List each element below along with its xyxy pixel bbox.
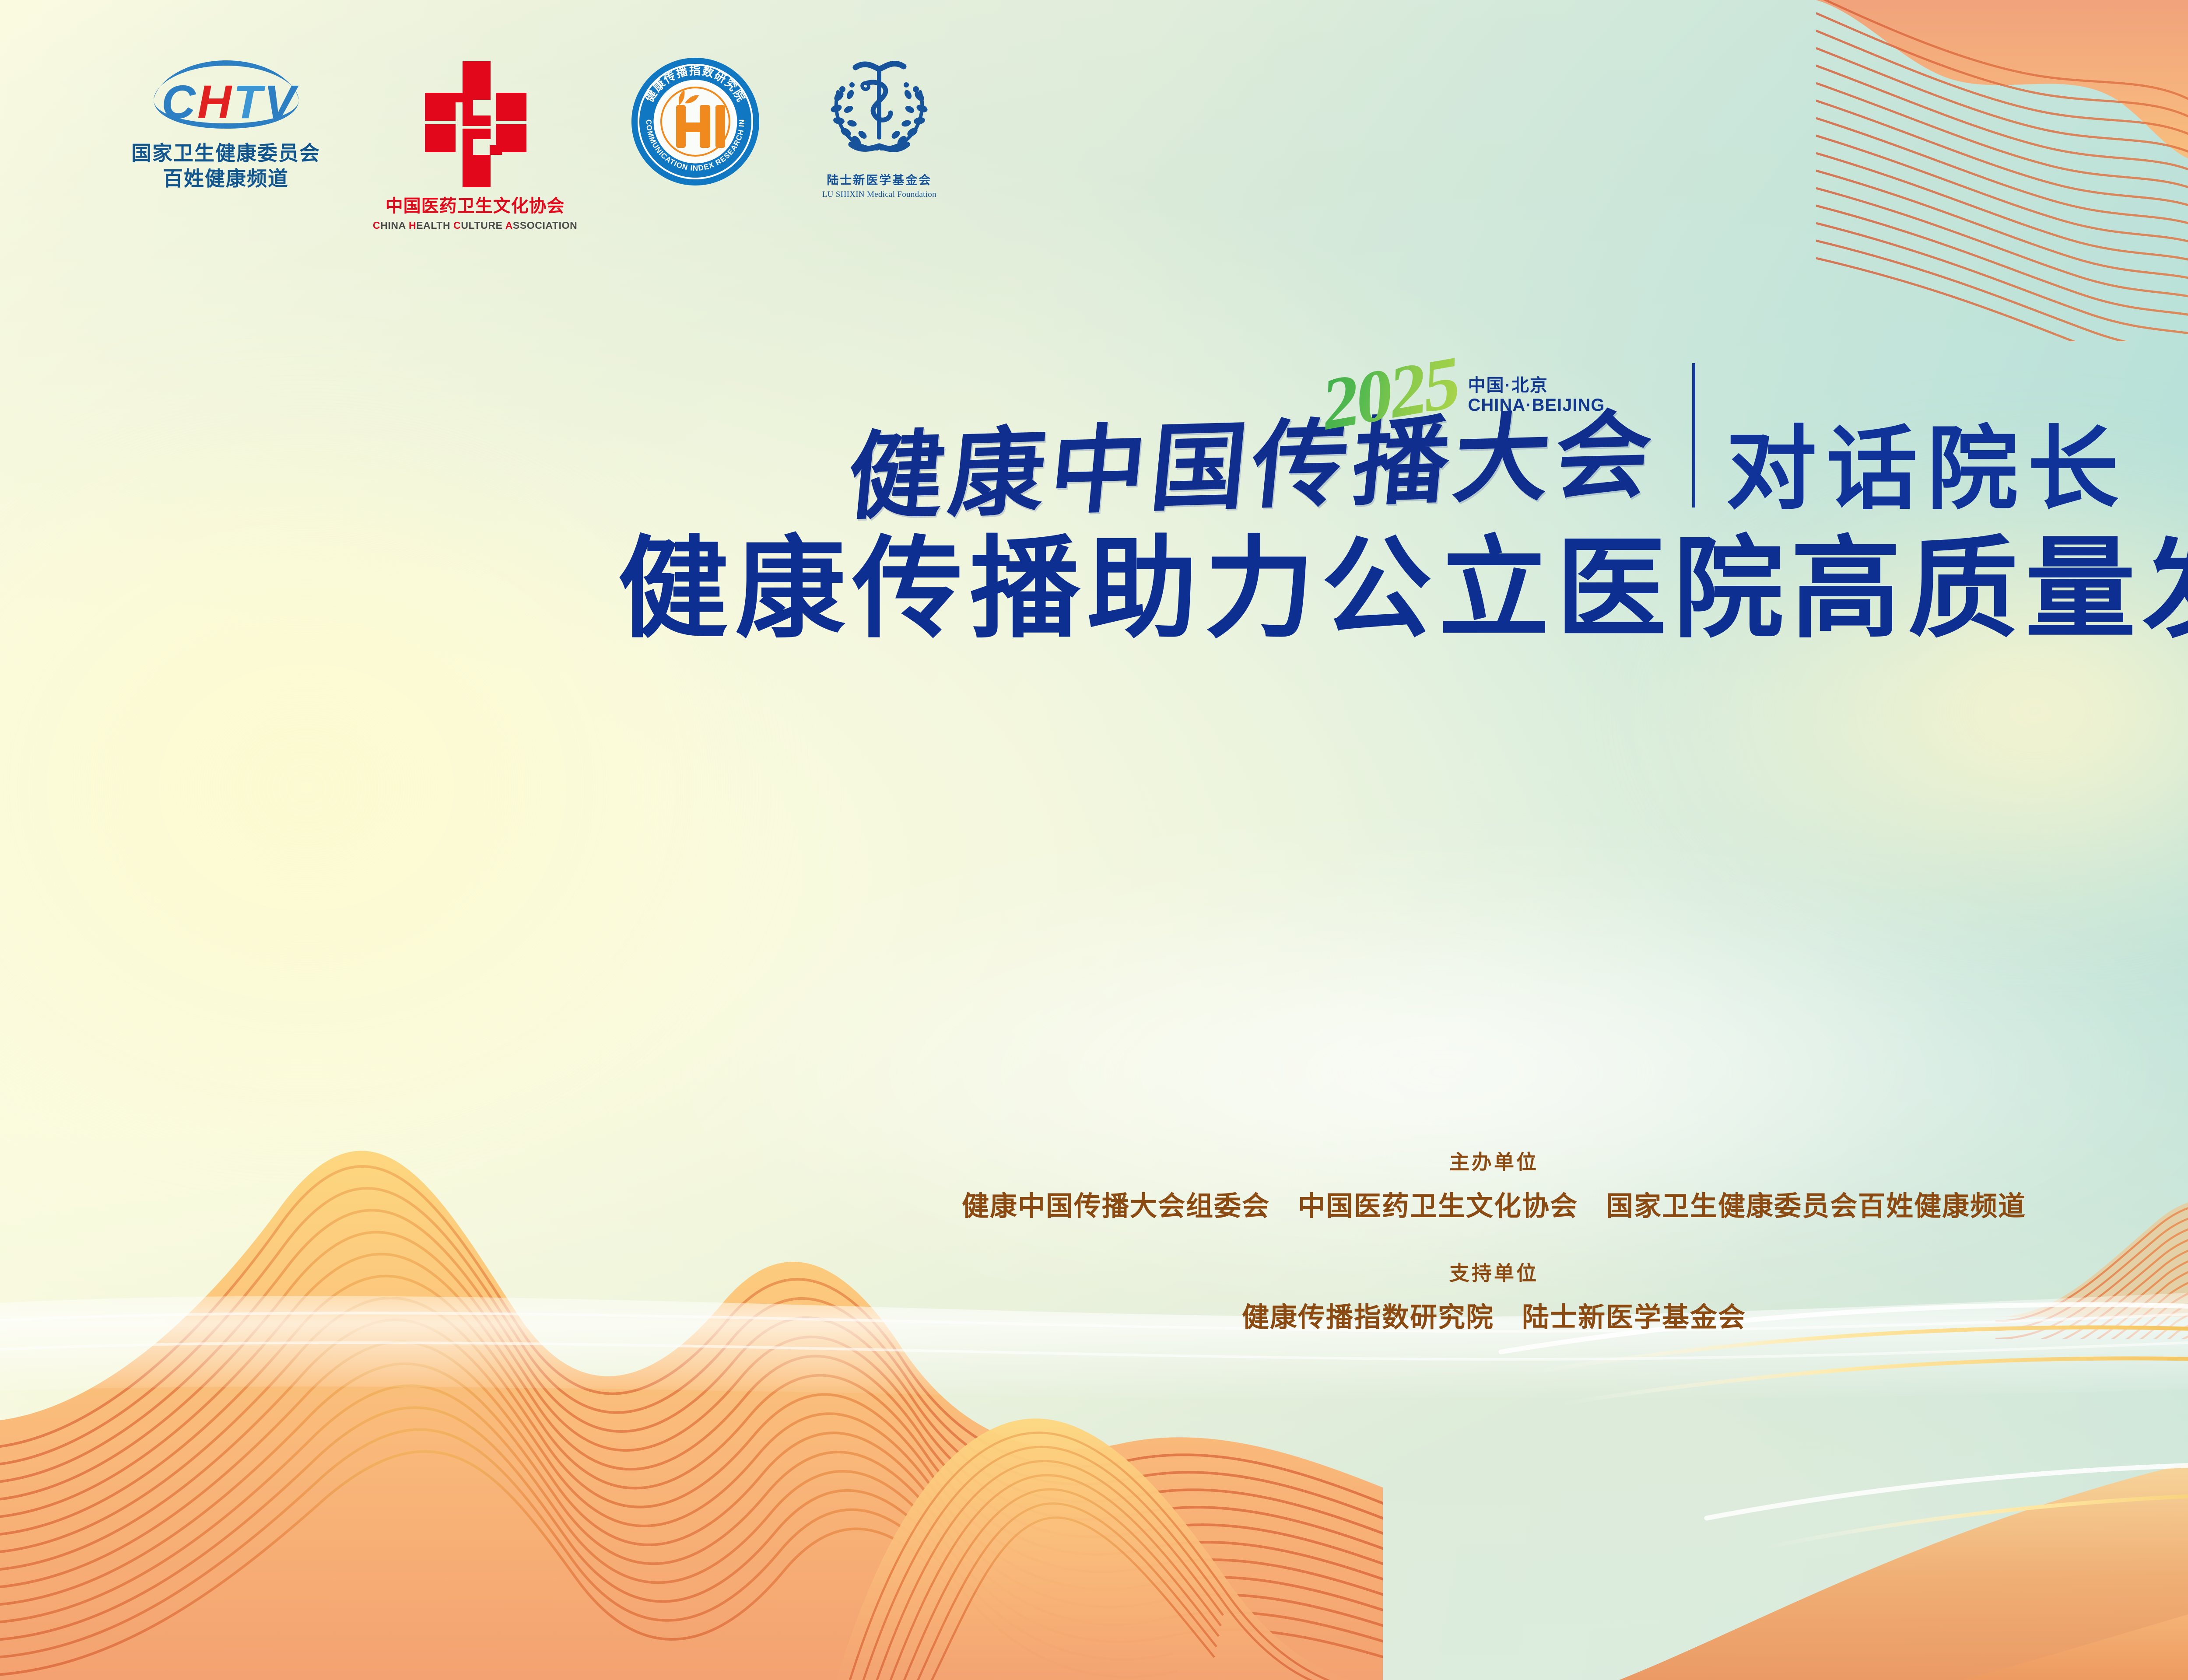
session-title: 对话院长 [1726, 424, 2139, 515]
brush-title: 健康中国传播大会 [843, 409, 1660, 526]
logo-chtv: C H T V 国家卫生健康委员会 百姓健康频道 [131, 52, 320, 191]
host-label: 主办单位 [0, 1146, 2188, 1175]
background-gradient [0, 0, 2188, 1680]
year-2025: 2025 [1322, 350, 1458, 437]
asclepius-laurel-icon [813, 54, 945, 168]
svg-text:T: T [233, 75, 266, 128]
logo-hciri: 健康传播指数研究院 HEALTH COMMUNICATION INDEX RES… [630, 56, 761, 187]
poster-canvas: C H T V 国家卫生健康委员会 百姓健康频道 [0, 0, 2188, 1680]
title-divider [1692, 363, 1695, 507]
interlocking-cross-icon [421, 59, 530, 190]
year-city-badge: 2025 中国·北京 CHINA·BEIJING [1322, 362, 1605, 425]
lushixin-caption-cn: 陆士新医学基金会 [822, 173, 936, 188]
organizers-block: 主办单位 健康中国传播大会组委会 中国医药卫生文化协会 国家卫生健康委员会百姓健… [0, 1146, 2188, 1334]
lushixin-caption-en: LU SHIXIN Medical Foundation [822, 189, 936, 200]
partner-logo-bar: C H T V 国家卫生健康委员会 百姓健康频道 [131, 52, 945, 232]
chtv-swoosh-icon: C H T V [140, 52, 311, 136]
city-cn: 中国·北京 [1468, 376, 1605, 395]
chca-caption-cn: 中国医药卫生文化协会 [373, 195, 577, 217]
chtv-caption-line2: 百姓健康频道 [131, 166, 320, 192]
chca-caption-en: CHINA HEALTH CULTURE ASSOCIATION [373, 219, 577, 232]
logo-lushixin: 陆士新医学基金会 LU SHIXIN Medical Foundation [813, 54, 945, 200]
title-block: 健康中国传播大会 2025 中国·北京 CHINA·BEIJING 对话院长 健… [0, 363, 2188, 645]
svg-text:C: C [161, 75, 196, 128]
logo-chca: 中国医药卫生文化协会 CHINA HEALTH CULTURE ASSOCIAT… [373, 59, 577, 232]
city-en: CHINA·BEIJING [1468, 395, 1605, 415]
circular-hi-seal-icon: 健康传播指数研究院 HEALTH COMMUNICATION INDEX RES… [630, 56, 761, 187]
title-row: 健康中国传播大会 2025 中国·北京 CHINA·BEIJING 对话院长 [849, 363, 2139, 515]
headline: 健康传播助力公立医院高质量发展 [611, 535, 2188, 645]
support-label: 支持单位 [0, 1257, 2188, 1286]
chtv-caption-line1: 国家卫生健康委员会 [131, 141, 320, 166]
svg-text:H: H [197, 75, 232, 128]
city-label: 中国·北京 CHINA·BEIJING [1468, 376, 1605, 425]
support-names: 健康传播指数研究院 陆士新医学基金会 [0, 1295, 2188, 1334]
svg-text:V: V [264, 75, 299, 128]
host-names: 健康中国传播大会组委会 中国医药卫生文化协会 国家卫生健康委员会百姓健康频道 [0, 1184, 2188, 1223]
